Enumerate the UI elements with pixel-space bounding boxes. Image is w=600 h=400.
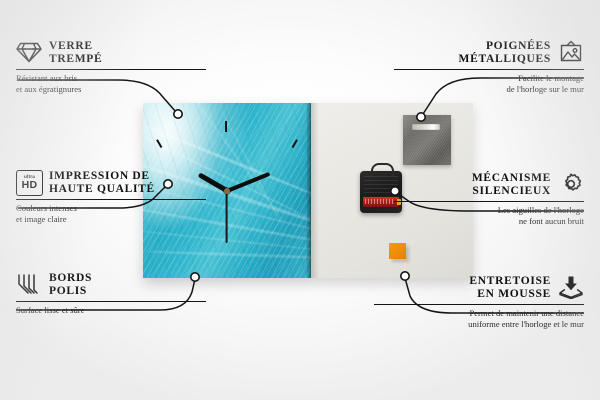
foam-spacer [389,243,406,259]
polished-edges-icon [16,272,42,298]
feature-subtitle: Couleurs intenses et image claire [16,203,206,224]
feature-divider [394,201,584,202]
feature-impression-haute-qualite: ultra HD IMPRESSION DE HAUTE QUALITÉ Cou… [16,170,206,224]
feature-subtitle: Résistant aux bris et aux égratignures [16,73,206,94]
feature-subtitle: Facilite le montage de l'horloge sur le … [394,73,584,94]
ultra-hd-icon-large-text: HD [22,180,38,191]
feature-divider [16,301,206,302]
clock-center-hub [224,188,230,194]
picture-frame-hanger-icon [558,40,584,66]
feature-divider [394,69,584,70]
clock-second-hand [226,191,228,243]
clock-minute-hand [226,171,270,192]
feature-divider [16,69,206,70]
feature-title: IMPRESSION DE HAUTE QUALITÉ [49,170,155,196]
feature-title: ENTRETOISE EN MOUSSE [469,275,551,301]
feature-subtitle: Surface lisse et sûre [16,305,206,315]
feature-divider [16,199,206,200]
foam-spacer-arrow-icon [558,275,584,301]
feature-bords-polis: BORDS POLIS Surface lisse et sûre [16,272,206,316]
ultra-hd-icon: ultra HD [16,170,42,196]
feature-title: BORDS POLIS [49,272,92,298]
feature-title: POIGNÉES MÉTALLIQUES [459,40,551,66]
gear-icon [558,172,584,198]
hanger-plate [403,115,451,165]
diamond-icon [16,40,42,66]
feature-divider [374,304,584,305]
feature-title: MÉCANISME SILENCIEUX [472,172,551,198]
feature-verre-trempe: VERRE TREMPÉ Résistant aux bris et aux é… [16,40,206,94]
feature-subtitle: Les aiguilles de l'horloge ne font aucun… [394,205,584,226]
feature-mecanisme-silencieux: MÉCANISME SILENCIEUX Les aiguilles de l'… [394,172,584,226]
infographic-canvas: VERRE TREMPÉ Résistant aux bris et aux é… [0,0,600,400]
feature-subtitle: Permet de maintenir une distance uniform… [374,308,584,329]
feature-poignees-metalliques: POIGNÉES MÉTALLIQUES Facilite le montage… [394,40,584,94]
feature-entretoise-en-mousse: ENTRETOISE EN MOUSSE Permet de maintenir… [374,275,584,329]
feature-title: VERRE TREMPÉ [49,40,102,66]
